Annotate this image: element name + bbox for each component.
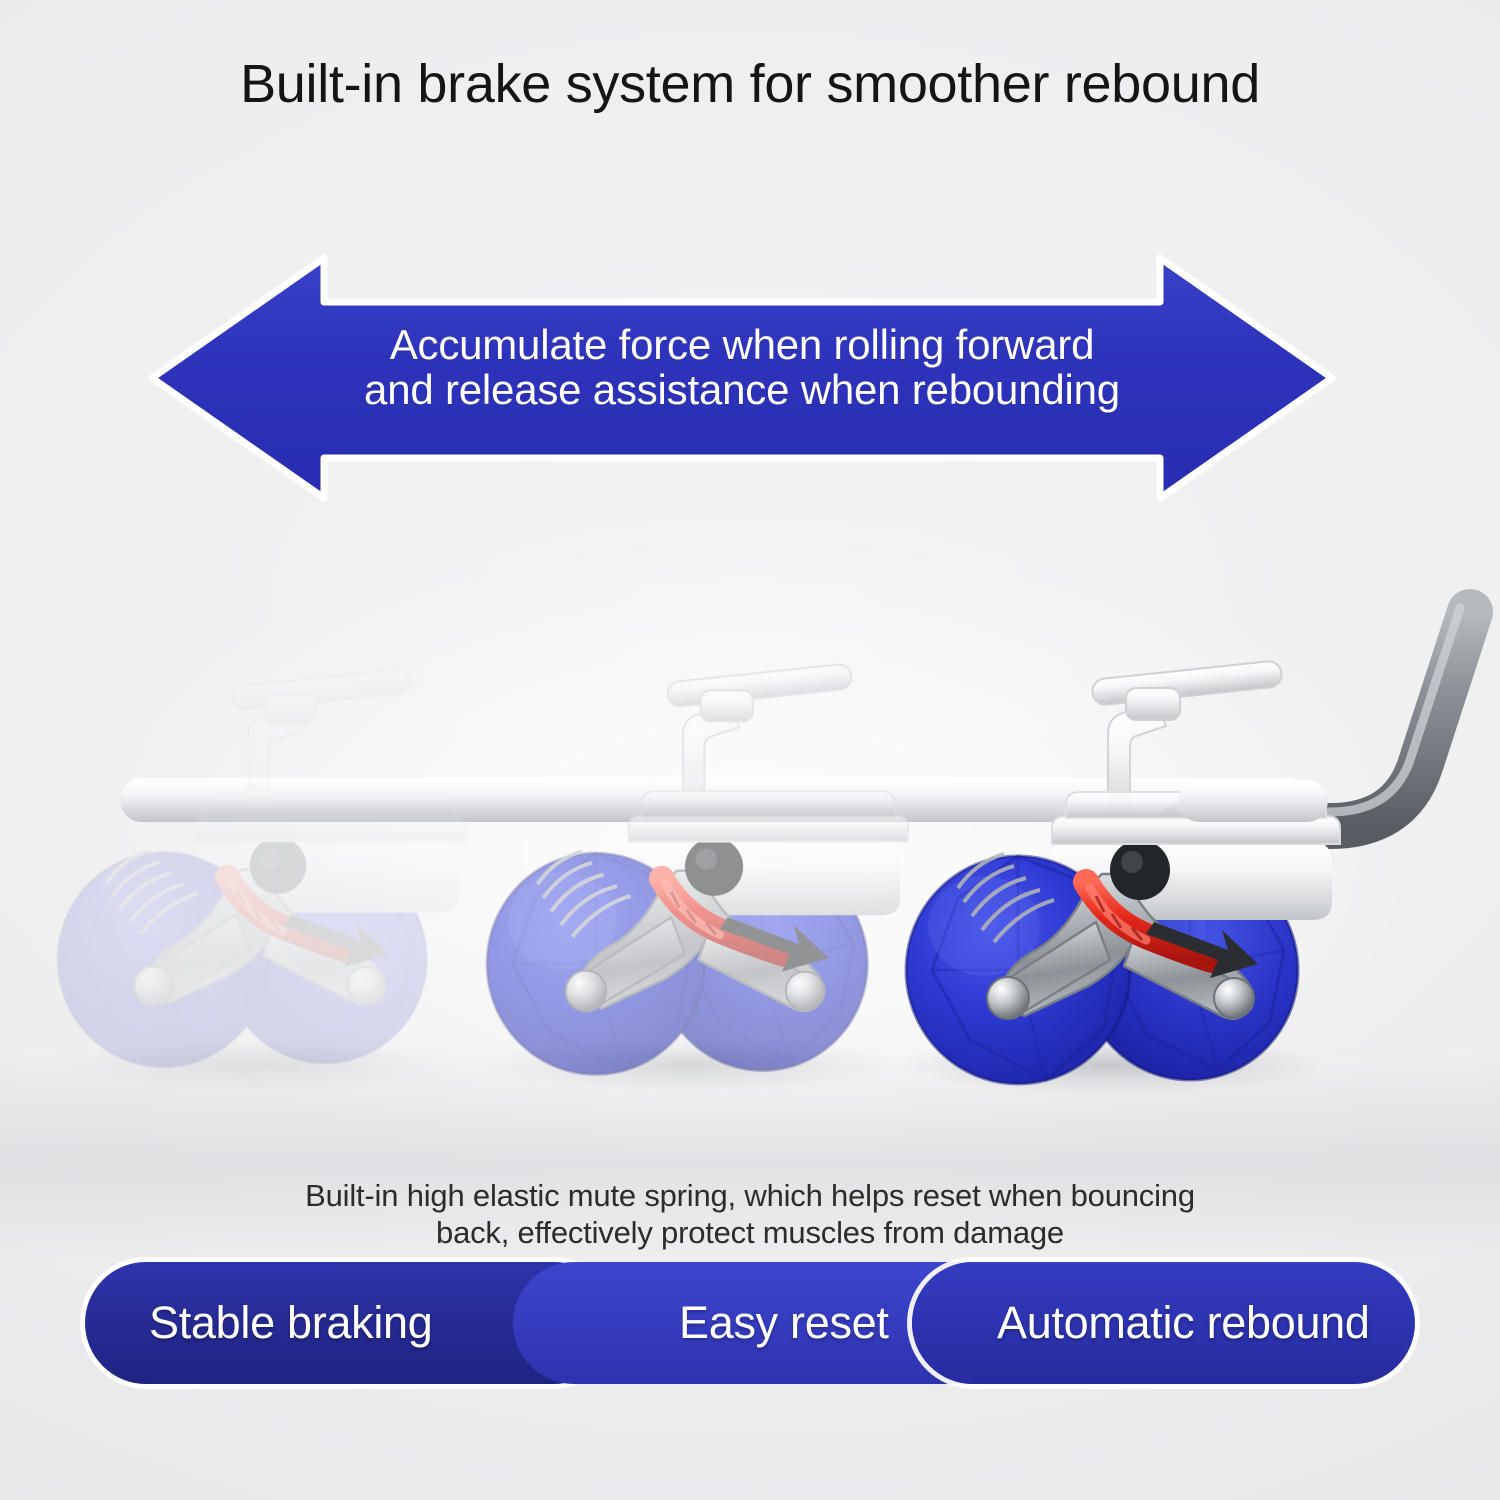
arrow-banner-line-1: Accumulate force when rolling forward [390,321,1095,368]
arrow-banner-text: Accumulate force when rolling forward an… [148,322,1336,413]
page-title: Built-in brake system for smoother rebou… [0,56,1500,113]
feature-pill-group: Stable braking Easy reset Automatic rebo… [85,1262,1415,1384]
feature-pill-label: Automatic rebound [997,1297,1370,1349]
arrow-banner-line-2: and release assistance when rebounding [148,367,1336,412]
product-feature-poster: Built-in brake system for smoother rebou… [0,0,1500,1500]
shaft-front-segment [1178,780,1328,822]
roller-solid [906,660,1340,1084]
feature-pill-label: Stable braking [149,1297,433,1349]
product-caption: Built-in high elastic mute spring, which… [0,1178,1500,1251]
feature-pill-label: Easy reset [679,1297,889,1349]
ab-roller-scene [0,560,1500,1120]
caption-line-2: back, effectively protect muscles from d… [0,1215,1500,1252]
roller-ghost-far [58,668,466,1066]
roller-ghost-mid [487,663,908,1074]
product-illustration [0,560,1500,1120]
caption-line-1: Built-in high elastic mute spring, which… [305,1178,1195,1213]
feature-pill-automatic-rebound[interactable]: Automatic rebound [912,1262,1415,1384]
